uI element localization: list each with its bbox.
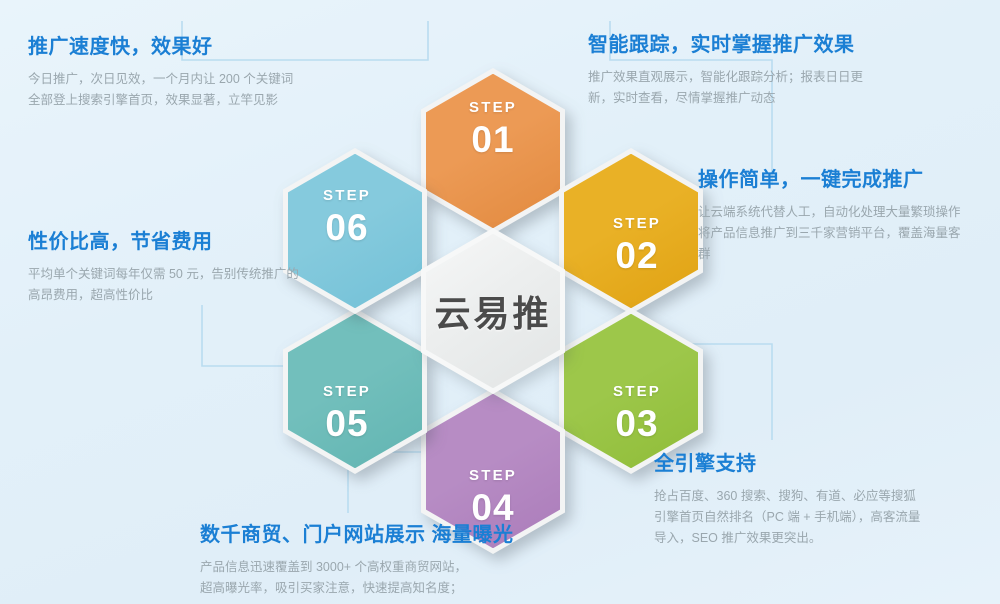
step-number: 05 [323,405,371,442]
feature-desc-line: 导入，SEO 推广效果更突出。 [654,528,924,549]
step-word: STEP [323,384,371,399]
hexagon-label: STEP 06 [323,188,371,246]
feature-desc-line: 平均单个关键词每年仅需 50 元，告别传统推广的 [28,264,328,285]
step-number: 02 [613,237,661,274]
step-word: STEP [469,100,517,115]
brand-name: 云易推 [434,285,551,337]
feature-desc-line: 今日推广，次日见效，一个月内让 200 个关键词 [28,69,328,90]
feature-desc-line: 将产品信息推广到三千家营销平台，覆盖海量客 [698,223,968,244]
infographic-canvas: STEP 01 STEP 02 STEP 03 STEP [0,0,1000,604]
feature-block-cost: 性价比高，节省费用 平均单个关键词每年仅需 50 元，告别传统推广的 高昂费用，… [28,225,328,306]
feature-block-tracking: 智能跟踪，实时掌握推广效果 推广效果直观展示，智能化跟踪分析；报表日日更 新，实… [588,28,918,109]
hexagon-label: STEP 02 [613,216,661,274]
feature-desc-line: 推广效果直观展示，智能化跟踪分析；报表日日更 [588,67,918,88]
step-word: STEP [323,188,371,203]
feature-desc-line: 超高曝光率，吸引买家注意，快速提高知名度； [200,578,570,599]
hexagon-step-02[interactable]: STEP 02 [559,148,703,314]
hexagon-step-05[interactable]: STEP 05 [283,308,427,474]
feature-block-engines: 全引擎支持 抢占百度、360 搜索、搜狗、有道、必应等搜狐 引擎首页自然排名（P… [654,447,924,549]
feature-desc-line: 全部登上搜索引擎首页，效果显著，立竿见影 [28,90,328,111]
feature-desc-line: 引擎首页自然排名（PC 端 + 手机端），高客流量 [654,507,924,528]
feature-desc-line: 群 [698,244,968,265]
feature-block-simple: 操作简单，一键完成推广 让云端系统代替人工，自动化处理大量繁琐操作 将产品信息推… [698,163,968,265]
feature-block-speed: 推广速度快，效果好 今日推广，次日见效，一个月内让 200 个关键词 全部登上搜… [28,30,328,111]
feature-title: 推广速度快，效果好 [28,30,328,59]
feature-title: 操作简单，一键完成推广 [698,163,968,192]
feature-desc-line: 产品信息迅速覆盖到 3000+ 个高权重商贸网站， [200,557,570,578]
step-word: STEP [469,468,517,483]
feature-title: 性价比高，节省费用 [28,225,328,254]
step-number: 06 [323,209,371,246]
hexagon-label: STEP 03 [613,384,661,442]
hexagon-label: STEP 01 [469,100,517,158]
feature-desc-line: 让云端系统代替人工，自动化处理大量繁琐操作 [698,202,968,223]
feature-title: 智能跟踪，实时掌握推广效果 [588,28,918,57]
feature-desc-line: 高昂费用，超高性价比 [28,285,328,306]
step-word: STEP [613,384,661,399]
hexagon-label: STEP 05 [323,384,371,442]
hexagon-cluster: STEP 01 STEP 02 STEP 03 STEP [283,68,703,468]
hexagon-center-brand: 云易推 [421,228,565,394]
feature-desc-line: 新，实时查看，尽情掌握推广动态 [588,88,918,109]
feature-desc-line: 抢占百度、360 搜索、搜狗、有道、必应等搜狐 [654,486,924,507]
step-number: 01 [469,121,517,158]
feature-title: 数千商贸、门户网站展示 海量曝光 [200,518,570,547]
feature-block-exposure: 数千商贸、门户网站展示 海量曝光 产品信息迅速覆盖到 3000+ 个高权重商贸网… [200,518,570,599]
connector-step03-right [692,344,772,440]
feature-title: 全引擎支持 [654,447,924,476]
step-number: 03 [613,405,661,442]
hexagon-step-01[interactable]: STEP 01 [421,68,565,234]
step-word: STEP [613,216,661,231]
